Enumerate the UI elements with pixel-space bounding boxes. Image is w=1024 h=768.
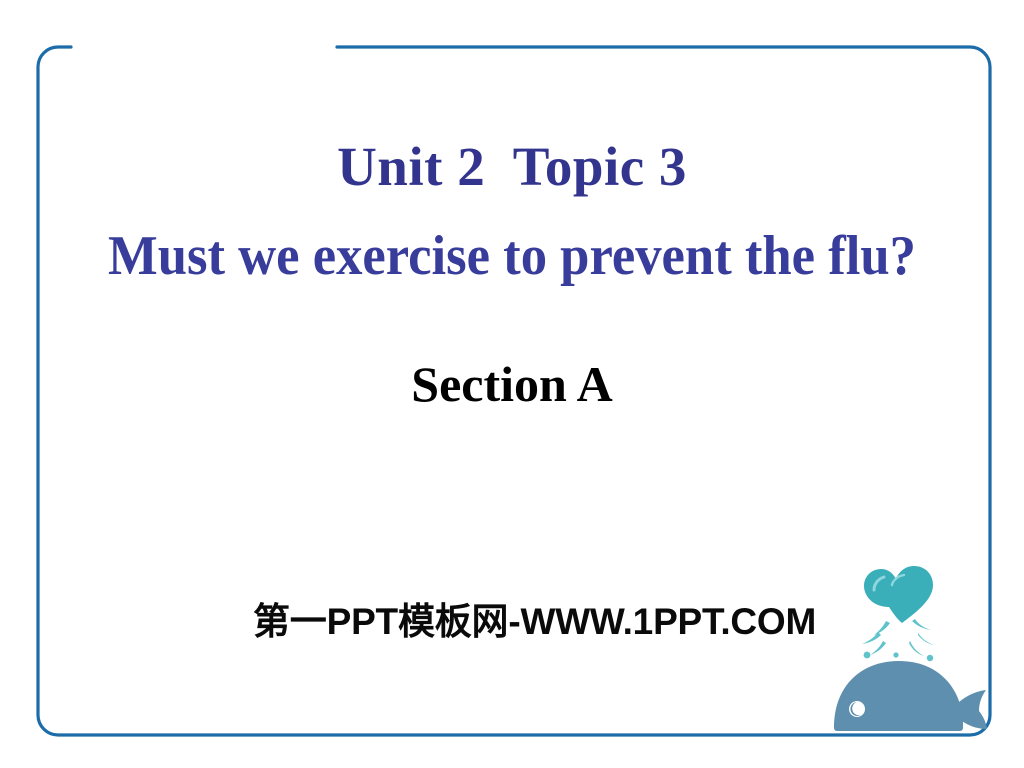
section-label: Section A — [0, 355, 1024, 413]
whale-icon — [826, 563, 996, 738]
watermark-text: 第一PPT模板网-WWW.1PPT.COM — [253, 600, 813, 644]
droplet-dot-2 — [927, 655, 933, 661]
droplet-right-1 — [912, 619, 931, 630]
droplet-left-2 — [862, 632, 881, 644]
droplet-right-2 — [918, 633, 934, 645]
whale-body-shape — [834, 661, 963, 727]
whale-belly — [834, 721, 963, 731]
droplet-right-3 — [909, 641, 924, 656]
whale-spout-heart — [864, 566, 933, 623]
droplet-dot-1 — [864, 652, 871, 659]
whale-body-group — [834, 661, 987, 731]
droplet-dot-3 — [893, 652, 898, 657]
heart-spout-shape — [864, 566, 933, 623]
droplet-left-3 — [870, 641, 886, 655]
page-title-unit-topic: Unit 2 Topic 3 — [0, 137, 1024, 197]
droplet-left-1 — [874, 621, 890, 635]
water-droplets — [862, 619, 934, 661]
slide-canvas: Unit 2 Topic 3 Must we exercise to preve… — [0, 0, 1024, 768]
page-subtitle-question: Must we exercise to prevent the flu? — [31, 224, 994, 288]
